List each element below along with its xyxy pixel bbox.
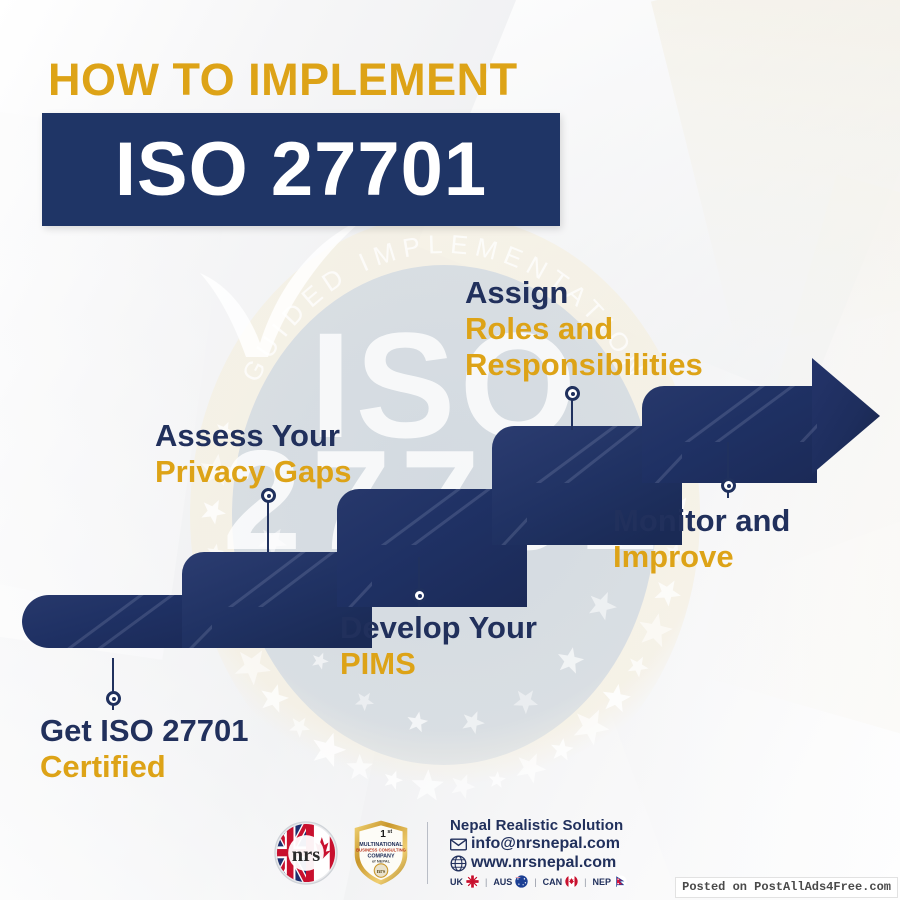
flag-separator: | [534,877,536,887]
step-4-title: Assign [465,275,703,311]
flag-separator: | [485,877,487,887]
website-text: www.nrsnepal.com [471,854,616,872]
uk-flag-icon [466,875,479,888]
step-3-subtitle: PIMS [340,646,537,682]
flag-item-aus: AUS [493,875,528,888]
infographic-canvas: GUIDED IMPLEMENTATION ISO 27701 HOW TO I… [0,0,900,900]
envelope-icon [450,838,467,851]
award-shield-icon: 1 st MULTINATIONAL BUSINESS CONSULTING C… [352,819,410,887]
website-row[interactable]: www.nrsnepal.com [450,854,627,872]
nep-flag-icon [614,875,627,888]
email-text: info@nrsnepal.com [471,835,620,853]
badge-line4: of NEPAL [372,858,391,863]
step-label-4: Assign Roles and Responsibilities [465,275,703,383]
flag-label-aus: AUS [493,877,512,887]
step-5-title: Monitor and [613,503,790,539]
badge-rank: 1 [380,828,386,839]
step-label-1: Get ISO 27701 Certified [40,713,249,785]
flag-label-can: CAN [543,877,563,887]
aus-flag-icon [515,875,528,888]
badge-rank-suffix: st [387,828,392,834]
company-name: Nepal Realistic Solution [450,817,627,834]
flag-label-uk: UK [450,877,463,887]
step-2-subtitle: Privacy Gaps [155,454,351,490]
step-1-subtitle: Certified [40,749,249,785]
globe-icon [450,855,467,872]
contact-block: Nepal Realistic Solution info@nrsnepal.c… [450,817,627,888]
flag-item-uk: UK [450,875,479,888]
badge-line2: BUSINESS CONSULTING [356,847,406,852]
site-watermark: Posted on PostAllAds4Free.com [675,877,898,898]
flag-item-can: CAN [543,875,579,888]
step-4-subtitle: Roles and [465,311,703,347]
svg-text:nrs: nrs [377,869,386,875]
step-3-title: Develop Your [340,610,537,646]
step-label-3: Develop Your PIMS [340,610,537,682]
step-1-title: Get ISO 27701 [40,713,249,749]
flag-label-nep: NEP [593,877,612,887]
svg-text:nrs: nrs [292,843,320,865]
step-label-2: Assess Your Privacy Gaps [155,418,351,490]
footer-divider [427,822,428,884]
email-row[interactable]: info@nrsnepal.com [450,835,627,853]
country-flags: UK [450,875,627,888]
can-flag-icon [565,875,578,888]
nrs-logo-icon: nrs [273,820,339,886]
step-label-5: Monitor and Improve [613,503,790,575]
step-4-subtitle-2: Responsibilities [465,347,703,383]
flag-item-nep: NEP [593,875,628,888]
step-5-subtitle: Improve [613,539,790,575]
flag-separator: | [584,877,586,887]
arrow-head [812,358,880,474]
step-2-title: Assess Your [155,418,351,454]
